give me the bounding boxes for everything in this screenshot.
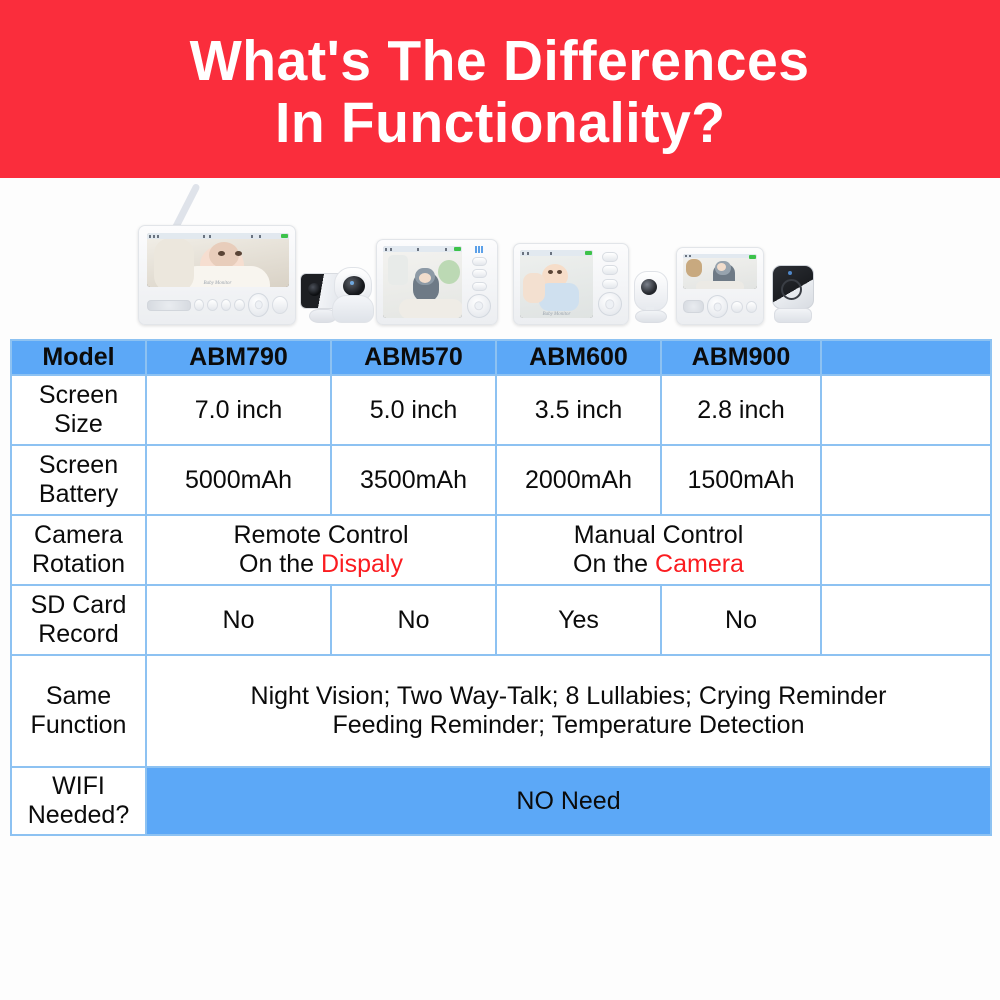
table-row: Screen Battery 5000mAh 3500mAh 2000mAh 1…: [11, 445, 991, 515]
cell-sd-abm600: Yes: [496, 585, 661, 655]
header-cell-model: Model: [11, 340, 146, 375]
cell-sd-abm790: No: [146, 585, 331, 655]
cell-battery-empty: [821, 445, 991, 515]
row-label-line-1: Same: [15, 682, 142, 711]
camera-rotation-left-highlight: Dispaly: [321, 550, 403, 578]
table-row: Camera Rotation Remote Control On the Di…: [11, 515, 991, 585]
row-label-screen-battery: Screen Battery: [11, 445, 146, 515]
monitor-button[interactable]: [472, 257, 487, 266]
product-group-abm790: Baby Monitor: [138, 225, 344, 325]
cell-camera-rotation-empty: [821, 515, 991, 585]
row-label-line-2: Rotation: [15, 550, 142, 579]
cell-sd-empty: [821, 585, 991, 655]
cell-screen-size-abm570: 5.0 inch: [331, 375, 496, 445]
monitor-button[interactable]: [602, 265, 618, 275]
cell-screen-size-abm900: 2.8 inch: [661, 375, 821, 445]
screen-abm900: [683, 254, 757, 289]
row-label-line-1: Screen: [15, 381, 142, 410]
monitor-abm900: [676, 247, 764, 325]
header-cell-abm570: ABM570: [331, 340, 496, 375]
table-row: SD Card Record No No Yes No: [11, 585, 991, 655]
camera-lens-icon: [781, 279, 802, 300]
row-label-line-2: Battery: [15, 480, 142, 509]
cell-sd-abm900: No: [661, 585, 821, 655]
header-cell-abm790: ABM790: [146, 340, 331, 375]
cell-sd-abm570: No: [331, 585, 496, 655]
row-label-same-function: Same Function: [11, 655, 146, 767]
camera-rotation-right-plain: On the: [573, 550, 655, 578]
cell-wifi-needed-value: NO Need: [146, 767, 991, 835]
camera-rotation-left-line-2: On the Dispaly: [150, 550, 492, 579]
monitor-button[interactable]: [746, 301, 757, 313]
row-label-camera-rotation: Camera Rotation: [11, 515, 146, 585]
cell-battery-abm790: 5000mAh: [146, 445, 331, 515]
monitor-button[interactable]: [731, 301, 742, 313]
same-function-line-1: Night Vision; Two Way-Talk; 8 Lullabies;…: [150, 682, 987, 711]
monitor-button[interactable]: [207, 299, 218, 311]
camera-lens-icon: [641, 279, 657, 295]
table-row: Screen Size 7.0 inch 5.0 inch 3.5 inch 2…: [11, 375, 991, 445]
screen-abm570: [383, 246, 462, 318]
table-row: WIFI Needed? NO Need: [11, 767, 991, 835]
row-label-line-2: Needed?: [15, 801, 142, 830]
product-group-abm570: [332, 239, 498, 325]
screen-status-bar: [147, 233, 289, 239]
screen-status-bar: [383, 246, 462, 252]
row-label-line-1: Camera: [15, 521, 142, 550]
screen-abm790: Baby Monitor: [147, 233, 289, 287]
cell-screen-size-abm600: 3.5 inch: [496, 375, 661, 445]
screen-status-bar: [683, 254, 757, 258]
camera-abm570: [332, 267, 372, 323]
led-indicator-icon: [475, 246, 483, 253]
cell-screen-size-empty: [821, 375, 991, 445]
camera-rotation-left-line-1: Remote Control: [150, 521, 492, 550]
baby-scene: [683, 254, 757, 289]
camera-abm600: [633, 271, 667, 323]
cell-screen-size-abm790: 7.0 inch: [146, 375, 331, 445]
monitor-abm570: [376, 239, 498, 325]
monitor-button[interactable]: [234, 299, 245, 311]
cell-same-function: Night Vision; Two Way-Talk; 8 Lullabies;…: [146, 655, 991, 767]
row-label-wifi-needed: WIFI Needed?: [11, 767, 146, 835]
row-label-sd-card-record: SD Card Record: [11, 585, 146, 655]
control-row-abm790: [147, 293, 288, 317]
table-header-row: Model ABM790 ABM570 ABM600 ABM900: [11, 340, 991, 375]
cell-battery-abm900: 1500mAh: [661, 445, 821, 515]
header-cell-empty: [821, 340, 991, 375]
camera-led-icon: [788, 271, 792, 275]
header-cell-abm600: ABM600: [496, 340, 661, 375]
banner-title-line-2: In Functionality?: [275, 92, 726, 154]
screen-status-bar: [520, 250, 593, 256]
monitor-button[interactable]: [602, 252, 618, 262]
row-label-line-1: Screen: [15, 451, 142, 480]
monitor-abm790: Baby Monitor: [138, 225, 296, 325]
screen-brand-label: Baby Monitor: [147, 281, 289, 286]
cell-battery-abm600: 2000mAh: [496, 445, 661, 515]
dpad-control[interactable]: [707, 295, 729, 318]
cell-camera-rotation-manual: Manual Control On the Camera: [496, 515, 821, 585]
same-function-line-2: Feeding Reminder; Temperature Detection: [150, 711, 987, 740]
comparison-table-container: Model ABM790 ABM570 ABM600 ABM900 Screen…: [10, 339, 990, 836]
camera-rotation-left-plain: On the: [239, 550, 321, 578]
monitor-button[interactable]: [602, 279, 618, 289]
monitor-abm600: Baby Monitor: [513, 243, 629, 325]
dpad-control[interactable]: [467, 294, 491, 318]
table-row: Same Function Night Vision; Two Way-Talk…: [11, 655, 991, 767]
camera-rotation-right-line-1: Manual Control: [500, 521, 817, 550]
control-column-abm600: [598, 250, 622, 318]
title-banner: What's The Differences In Functionality?: [0, 0, 1000, 178]
camera-abm900: [768, 265, 816, 323]
camera-rotation-right-highlight: Camera: [655, 550, 744, 578]
comparison-table: Model ABM790 ABM570 ABM600 ABM900 Screen…: [10, 339, 992, 836]
cell-battery-abm570: 3500mAh: [331, 445, 496, 515]
dpad-control[interactable]: [248, 293, 269, 317]
row-label-line-2: Function: [15, 711, 142, 740]
power-button[interactable]: [272, 296, 288, 314]
monitor-button[interactable]: [472, 282, 487, 291]
speaker-grille: [683, 300, 704, 313]
dpad-control[interactable]: [598, 292, 622, 316]
screen-brand-label: Baby Monitor: [520, 312, 593, 317]
monitor-button[interactable]: [194, 299, 205, 311]
screen-abm600: Baby Monitor: [520, 250, 593, 318]
row-label-line-2: Record: [15, 620, 142, 649]
monitor-button[interactable]: [221, 299, 232, 311]
product-group-abm900: [676, 247, 816, 325]
product-image-strip: Baby Monitor: [0, 178, 1000, 333]
control-row-abm900: [683, 295, 757, 318]
header-cell-abm900: ABM900: [661, 340, 821, 375]
product-group-abm600: Baby Monitor: [513, 243, 667, 325]
banner-title-line-1: What's The Differences: [190, 30, 810, 92]
row-label-screen-size: Screen Size: [11, 375, 146, 445]
baby-scene: [383, 246, 462, 318]
baby-scene: [520, 250, 593, 318]
baby-scene: [147, 233, 289, 287]
row-label-line-1: WIFI: [15, 772, 142, 801]
row-label-line-2: Size: [15, 410, 142, 439]
speaker-grille: [147, 300, 191, 311]
monitor-button[interactable]: [472, 269, 487, 278]
row-label-line-1: SD Card: [15, 591, 142, 620]
cell-camera-rotation-remote: Remote Control On the Dispaly: [146, 515, 496, 585]
camera-lens-icon: [308, 283, 321, 296]
camera-rotation-right-line-2: On the Camera: [500, 550, 817, 579]
control-column-abm570: [467, 246, 491, 318]
